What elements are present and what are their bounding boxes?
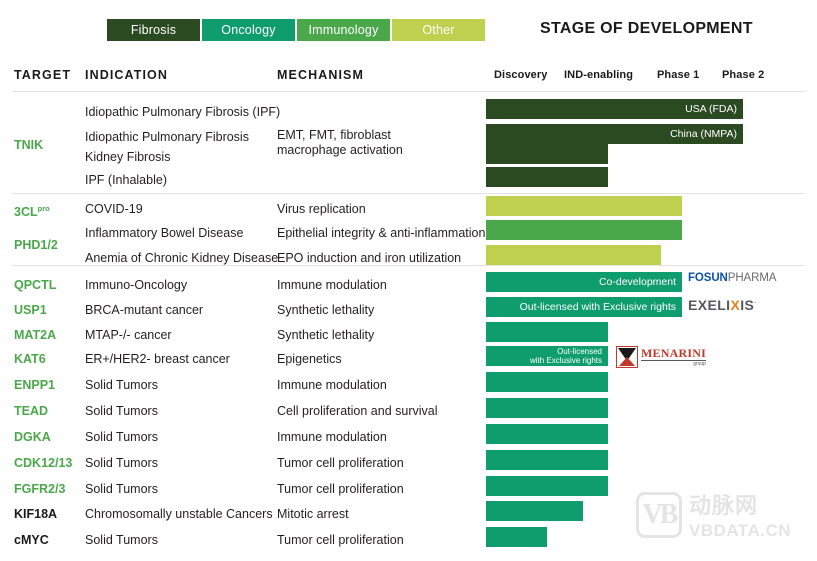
target-label: USP1	[14, 297, 86, 323]
exelixis-logo: EXELIXIS·	[688, 297, 757, 313]
legend-label: Oncology	[221, 23, 275, 37]
stage-bar	[486, 144, 608, 164]
legend-label: Immunology	[308, 23, 378, 37]
indication-label: Solid Tumors	[85, 476, 275, 502]
stage-bar-label: Out-licensed with Exclusive rights	[520, 302, 682, 313]
stage-bar	[486, 476, 608, 496]
target-label: KIF18A	[14, 501, 86, 527]
legend-label: Fibrosis	[131, 23, 176, 37]
legend-chip-other: Other	[392, 19, 485, 41]
mechanism-label: Immune modulation	[277, 372, 482, 398]
fosun-logo-text: FOSUN	[688, 272, 728, 284]
target-name: DGKA	[14, 430, 51, 444]
indication-label: MTAP-/- cancer	[85, 322, 275, 348]
table-row: FGFR2/3Solid TumorsTumor cell proliferat…	[0, 476, 817, 502]
table-row: 3CLproCOVID-19Virus replication	[0, 196, 817, 222]
table-row: MAT2AMTAP-/- cancerSynthetic lethality	[0, 322, 817, 348]
stage-bar	[486, 527, 547, 547]
trademark-icon: ·	[754, 300, 756, 306]
stage-bar-label: China (NMPA)	[670, 129, 743, 140]
target-label: KAT6	[14, 346, 86, 372]
stage-bar-label: USA (FDA)	[685, 104, 743, 115]
stage-bar	[486, 372, 608, 392]
stage-bar	[486, 245, 661, 265]
legend-chip-immunology: Immunology	[297, 19, 390, 41]
stage-bar	[486, 220, 682, 240]
target-label: CDK12/13	[14, 450, 86, 476]
mechanism-label: Tumor cell proliferation	[277, 450, 482, 476]
target-name: KIF18A	[14, 507, 57, 521]
target-name: QPCTL	[14, 278, 56, 292]
indication-label: Solid Tumors	[85, 398, 275, 424]
indication-label: Solid Tumors	[85, 450, 275, 476]
stage-bar	[486, 167, 608, 187]
menarini-logo-text: MENARINI	[641, 347, 706, 359]
indication-label: ER+/HER2- breast cancer	[85, 346, 275, 372]
mechanism-label: Tumor cell proliferation	[277, 527, 482, 553]
stage-bar	[486, 196, 682, 216]
legend-chip-fibrosis: Fibrosis	[107, 19, 200, 41]
indication-label: Solid Tumors	[85, 424, 275, 450]
stage-bar	[486, 424, 608, 444]
indication-label: IPF (Inhalable)	[85, 167, 275, 193]
column-header-mechanism: MECHANISM	[277, 68, 364, 82]
indication-label: Chromosomally unstable Cancers	[85, 501, 275, 527]
table-row: PHD1/2Inflammatory Bowel DiseaseEpitheli…	[0, 220, 817, 246]
legend-label: Other	[422, 23, 454, 37]
menarini-group-text: group	[641, 360, 706, 367]
exelixis-logo-text: EXELI	[688, 297, 730, 313]
fosun-pharma-logo: FOSUNPHARMA	[688, 272, 776, 284]
indication-label: Immuno-Oncology	[85, 272, 275, 298]
indication-label: Solid Tumors	[85, 372, 275, 398]
stage-bar: USA (FDA)	[486, 99, 743, 119]
column-header-indication: INDICATION	[85, 68, 168, 82]
indication-label: COVID-19	[85, 196, 275, 222]
phase-header-ind-enabling: IND-enabling	[564, 69, 633, 81]
target-name: TEAD	[14, 404, 48, 418]
target-name: ENPP1	[14, 378, 55, 392]
mechanism-label: Epithelial integrity & anti-inflammation	[277, 220, 482, 246]
table-row: TNIKIdiopathic Pulmonary Fibrosis (IPF)U…	[0, 99, 817, 125]
menarini-group-logo: MENARINIgroup	[616, 346, 706, 368]
stage-bar	[486, 398, 608, 418]
table-row: QPCTLImmuno-OncologyImmune modulationCo-…	[0, 272, 817, 298]
stage-bar: Co-development	[486, 272, 682, 292]
indication-label: BRCA-mutant cancer	[85, 297, 275, 323]
exelixis-x-icon: X	[730, 297, 740, 313]
target-label: DGKA	[14, 424, 86, 450]
target-superscript: pro	[38, 204, 50, 213]
indication-label: Idiopathic Pulmonary Fibrosis (IPF)	[85, 99, 275, 125]
mechanism-label: Tumor cell proliferation	[277, 476, 482, 502]
table-row: ENPP1Solid TumorsImmune modulation	[0, 372, 817, 398]
target-name: cMYC	[14, 533, 49, 547]
table-row: Anemia of Chronic Kidney DiseaseEPO indu…	[0, 245, 817, 271]
mechanism-label: EPO induction and iron utilization	[277, 245, 482, 271]
table-row: USP1BRCA-mutant cancerSynthetic lethalit…	[0, 297, 817, 323]
mechanism-label: Virus replication	[277, 196, 482, 222]
table-row: IPF (Inhalable)	[0, 167, 817, 193]
menarini-mark-icon	[616, 346, 638, 368]
phase-header-discovery: Discovery	[494, 69, 548, 81]
pharma-logo-text: PHARMA	[728, 272, 777, 284]
table-row: KIF18AChromosomally unstable CancersMito…	[0, 501, 817, 527]
target-label: cMYC	[14, 527, 86, 553]
target-name: CDK12/13	[14, 456, 72, 470]
target-name: USP1	[14, 303, 47, 317]
indication-label: Anemia of Chronic Kidney Disease	[85, 245, 275, 271]
stage-bar: Out-licensed with Exclusive rights	[486, 346, 608, 366]
target-name: FGFR2/3	[14, 482, 65, 496]
indication-label: Inflammatory Bowel Disease	[85, 220, 275, 246]
stage-bar	[486, 501, 583, 521]
table-row: DGKASolid TumorsImmune modulation	[0, 424, 817, 450]
legend: FibrosisOncologyImmunologyOther	[107, 19, 485, 41]
legend-chip-oncology: Oncology	[202, 19, 295, 41]
stage-bar	[486, 322, 608, 342]
indication-label: Solid Tumors	[85, 527, 275, 553]
stage-bar	[486, 450, 608, 470]
target-label: FGFR2/3	[14, 476, 86, 502]
menarini-m-shape	[619, 357, 635, 366]
target-name: KAT6	[14, 352, 46, 366]
target-label: MAT2A	[14, 322, 86, 348]
target-name: MAT2A	[14, 328, 56, 342]
exelixis-logo-suffix: IS	[740, 297, 754, 313]
mechanism-label: Immune modulation	[277, 424, 482, 450]
stage-bar: China (NMPA)	[486, 124, 743, 144]
stage-of-development-title: STAGE OF DEVELOPMENT	[540, 20, 753, 38]
menarini-text-block: MENARINIgroup	[641, 347, 706, 367]
table-row: TEADSolid TumorsCell proliferation and s…	[0, 398, 817, 424]
target-label: TEAD	[14, 398, 86, 424]
stage-bar: Out-licensed with Exclusive rights	[486, 297, 682, 317]
phase-header-phase-1: Phase 1	[657, 69, 699, 81]
target-name: 3CL	[14, 205, 38, 219]
phase-header-phase-2: Phase 2	[722, 69, 764, 81]
mechanism-label: Cell proliferation and survival	[277, 398, 482, 424]
mechanism-label: Epigenetics	[277, 346, 482, 372]
row-divider	[12, 193, 805, 194]
target-label: QPCTL	[14, 272, 86, 298]
table-row: cMYCSolid TumorsTumor cell proliferation	[0, 527, 817, 553]
stage-bar-label: Out-licensed with Exclusive rights	[530, 347, 608, 366]
mechanism-label: Synthetic lethality	[277, 322, 482, 348]
mechanism-label: Mitotic arrest	[277, 501, 482, 527]
mechanism-label: Immune modulation	[277, 272, 482, 298]
pipeline-chart: FibrosisOncologyImmunologyOther STAGE OF…	[0, 0, 817, 561]
table-row: CDK12/13Solid TumorsTumor cell prolifera…	[0, 450, 817, 476]
table-row: KAT6ER+/HER2- breast cancerEpigeneticsOu…	[0, 346, 817, 372]
mechanism-label: Synthetic lethality	[277, 297, 482, 323]
column-header-target: TARGET	[14, 68, 71, 82]
target-label: ENPP1	[14, 372, 86, 398]
stage-bar-label: Co-development	[599, 277, 682, 288]
row-divider	[12, 91, 805, 92]
